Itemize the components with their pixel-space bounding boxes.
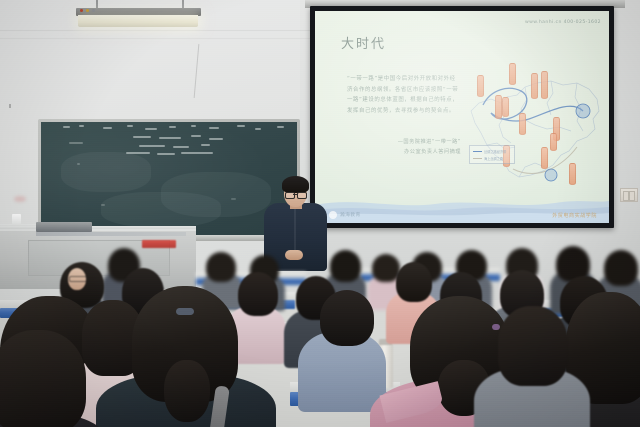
chalk-mark [237, 125, 245, 127]
map-marker [550, 133, 557, 151]
slide-footer-logo-mark [329, 211, 337, 219]
map-marker [502, 97, 509, 117]
chalk-mark [79, 125, 84, 127]
slide-title: 大时代 [341, 33, 386, 52]
slide-attribution: —国务院推进“一带一路” 办公室负责人答问摘理 [359, 138, 461, 157]
belt-and-road-map: 丝绸之路经济带 海上丝绸之路 [465, 59, 605, 199]
map-marker [531, 73, 538, 99]
green-chalkboard [41, 122, 297, 235]
light-switch-panel[interactable] [620, 188, 638, 202]
hair-tie [176, 308, 194, 315]
light-indicator-red [80, 9, 83, 12]
legend-line-land [473, 151, 482, 152]
teacher-glasses-right-lens [297, 192, 307, 199]
chalk-mark [169, 126, 176, 128]
legend-label-land: 丝绸之路经济带 [484, 149, 506, 154]
chalk-mark [157, 153, 175, 155]
chalk-mark [201, 144, 210, 146]
map-marker [541, 147, 548, 169]
map-marker [541, 71, 548, 99]
slide-attribution-line2: 办公室负责人答问摘理 [359, 148, 461, 158]
chalk-mark [173, 146, 189, 148]
podium-panel-strip [36, 232, 186, 236]
light-switch-key-2[interactable] [629, 191, 635, 201]
map-marker [495, 95, 502, 119]
chalk-mark [209, 127, 219, 129]
chalk-mark [181, 152, 213, 154]
legend-label-sea: 海上丝绸之路 [484, 156, 503, 161]
fluorescent-light-tube [78, 15, 198, 27]
light-indicator-amber [86, 9, 89, 12]
podium-warning-sticker [142, 240, 176, 248]
teacher-hands [285, 250, 303, 260]
chalk-mark [133, 136, 151, 138]
light-indicator-grey [92, 9, 95, 12]
slide-body-text: “一带一路”是中国今后对外开放和对外经济合作的总纲领。各省区市应该按照“一带一路… [347, 74, 459, 116]
chalk-mark [255, 128, 261, 130]
chalk-mark [209, 138, 223, 140]
map-marker [509, 63, 516, 85]
map-marker [519, 113, 526, 135]
paper-cup [12, 214, 21, 225]
student-glasses [69, 276, 87, 282]
chalk-mark [103, 127, 112, 129]
chalk-mark [277, 126, 284, 128]
chalk-mark [231, 198, 236, 200]
chalk-mark [77, 163, 80, 165]
wall-seam [0, 30, 310, 31]
slide-footer-right-text: 外贸电商实战学院 [552, 212, 597, 219]
legend-line-sea [473, 158, 482, 159]
chalk-mark [159, 137, 181, 139]
projector-screen: www.hanhi.cn 400-025-1602 大时代 “一带一路”是中国今… [315, 11, 609, 223]
chalk-mark [126, 152, 150, 154]
slide-header-url: www.hanhi.cn 400-025-1602 [525, 20, 601, 25]
chalk-mark [69, 142, 83, 144]
wall-speck [9, 104, 11, 108]
chalk-mark [191, 135, 201, 137]
chalk-mark [101, 204, 105, 206]
map-marker [477, 75, 484, 97]
chalk-mark [145, 128, 157, 130]
slide-attribution-line1: —国务院推进“一带一路” [359, 138, 461, 148]
map-legend: 丝绸之路经济带 海上丝绸之路 [469, 145, 515, 164]
slide-footer-wave: 瀚海教育 外贸电商实战学院 [315, 193, 609, 223]
teacher-glasses-bridge [293, 194, 297, 195]
wall-stain [14, 196, 26, 202]
podium-monitor [36, 222, 92, 232]
classroom-photo: www.hanhi.cn 400-025-1602 大时代 “一带一路”是中国今… [0, 0, 640, 427]
chalk-mark [139, 145, 165, 147]
teacher-hair [282, 176, 309, 193]
hair-clip [492, 324, 500, 330]
map-marker [569, 163, 576, 185]
chalk-mark [63, 126, 70, 128]
teacher-jacket-placket [294, 208, 296, 256]
ponytail [164, 360, 210, 422]
chalk-mark [127, 125, 133, 127]
wall-seam-secondary [0, 38, 310, 39]
slide-footer-left-text: 瀚海教育 [340, 212, 361, 218]
chalk-mark [191, 125, 196, 127]
